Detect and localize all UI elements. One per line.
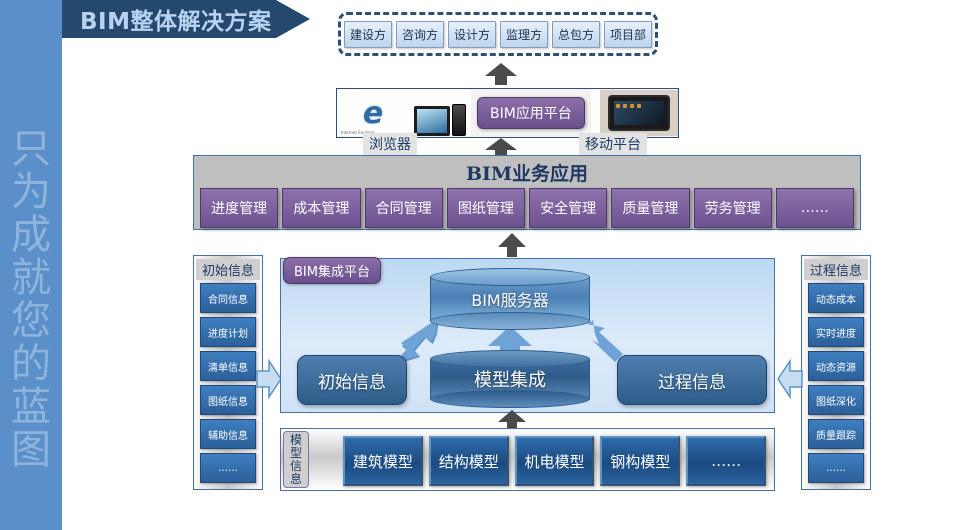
model-integration-label: 模型集成 [474,366,546,392]
process-information-title: 过程信息 [804,259,868,280]
initial-info-item[interactable]: 图纸信息 [200,385,256,415]
business-application-title: BIM业务应用 [194,159,860,186]
business-module-more[interactable]: …… [776,188,854,228]
cylinder-top [430,268,590,286]
stakeholder-item[interactable]: 总包方 [552,21,600,48]
initial-information-box[interactable]: 初始信息 [297,355,407,405]
initial-info-item[interactable]: 清单信息 [200,351,256,381]
business-module[interactable]: 成本管理 [282,188,360,228]
process-info-item-more[interactable]: …… [808,453,864,483]
process-info-item[interactable]: 动态成本 [808,283,864,313]
initial-information-panel: 初始信息 合同信息 进度计划 清单信息 图纸信息 辅助信息 …… [193,255,263,490]
stakeholder-item[interactable]: 建设方 [344,21,392,48]
up-arrow-icon [498,233,526,257]
watermark-char: 您 [0,300,62,343]
watermark-char: 就 [0,257,62,300]
tablet-device-icon [600,90,678,136]
model-item[interactable]: 结构模型 [429,436,509,486]
watermark-char: 图 [0,429,62,472]
platform-spacer [591,90,600,136]
process-info-item[interactable]: 动态资源 [808,351,864,381]
tower-icon [452,104,466,136]
business-module[interactable]: 质量管理 [611,188,689,228]
stakeholders-group: 建设方 咨询方 设计方 监理方 总包方 项目部 [338,12,658,56]
model-label-char: 型 [290,447,303,460]
model-label-char: 模 [290,434,303,447]
sidebar-watermark-text: 只 为 成 就 您 的 蓝 图 [0,128,62,472]
business-module[interactable]: 进度管理 [200,188,278,228]
initial-info-item[interactable]: 辅助信息 [200,419,256,449]
up-arrow-icon [485,138,517,156]
bim-server-cylinder: BIM服务器 [430,268,590,330]
mobile-platform-label: 移动平台 [579,133,647,155]
process-info-item[interactable]: 实时进度 [808,317,864,347]
desktop-computer-icon [409,90,471,136]
initial-info-item-more[interactable]: …… [200,453,256,483]
business-application-panel: BIM业务应用 进度管理 成本管理 合同管理 图纸管理 安全管理 质量管理 劳务… [193,155,861,230]
model-information-label: 模 型 信 息 [283,431,309,488]
business-module-list: 进度管理 成本管理 合同管理 图纸管理 安全管理 质量管理 劳务管理 …… [200,188,854,228]
stakeholder-item[interactable]: 项目部 [604,21,652,48]
header-banner: BIM整体解决方案 [62,0,310,38]
business-module[interactable]: 合同管理 [365,188,443,228]
watermark-char: 只 [0,128,62,171]
page-title: BIM整体解决方案 [80,2,271,36]
process-information-box[interactable]: 过程信息 [617,355,767,405]
model-item-more[interactable]: …… [686,436,766,486]
internet-explorer-icon: e Internet Explorer [337,90,409,136]
watermark-char: 的 [0,343,62,386]
slide-canvas: 只 为 成 就 您 的 蓝 图 BIM整体解决方案 建设方 咨询方 设计方 监理… [0,0,954,530]
watermark-char: 蓝 [0,386,62,429]
left-block-arrow-icon [777,358,803,400]
model-label-char: 信 [290,460,303,473]
watermark-char: 为 [0,171,62,214]
bim-application-platform-badge: BIM应用平台 [477,97,585,129]
business-module[interactable]: 安全管理 [529,188,607,228]
ie-glyph: e [363,96,383,131]
model-item[interactable]: 机电模型 [515,436,595,486]
model-item[interactable]: 建筑模型 [343,436,423,486]
stakeholder-item[interactable]: 监理方 [500,21,548,48]
cylinder-bottom [430,390,590,408]
bim-server-label: BIM服务器 [471,287,549,311]
initial-information-title: 初始信息 [196,259,260,280]
application-platform-row: e Internet Explorer BIM应用平台 [336,88,679,138]
tablet-app-dots [616,104,641,108]
process-info-item[interactable]: 图纸深化 [808,385,864,415]
stakeholder-item[interactable]: 设计方 [448,21,496,48]
integration-platform-badge: BIM集成平台 [283,257,381,284]
model-label-char: 息 [290,473,303,486]
stakeholder-item[interactable]: 咨询方 [396,21,444,48]
watermark-char: 成 [0,214,62,257]
business-module[interactable]: 图纸管理 [447,188,525,228]
up-arrow-icon [498,410,526,430]
right-block-arrow-icon [256,358,282,400]
business-module[interactable]: 劳务管理 [694,188,772,228]
monitor-icon [414,106,450,136]
model-integration-cylinder: 模型集成 [430,350,590,408]
cylinder-bottom [430,312,590,330]
model-item-list: 建筑模型 结构模型 机电模型 钢构模型 …… [343,436,766,486]
model-item[interactable]: 钢构模型 [600,436,680,486]
initial-info-item[interactable]: 进度计划 [200,317,256,347]
process-info-item[interactable]: 质量跟踪 [808,419,864,449]
up-arrow-icon [485,63,517,85]
browser-label: 浏览器 [363,133,417,155]
process-information-panel: 过程信息 动态成本 实时进度 动态资源 图纸深化 质量跟踪 …… [801,255,871,490]
model-information-panel: 建筑模型 结构模型 机电模型 钢构模型 …… [280,428,775,491]
initial-info-item[interactable]: 合同信息 [200,283,256,313]
tablet-body [608,95,670,131]
